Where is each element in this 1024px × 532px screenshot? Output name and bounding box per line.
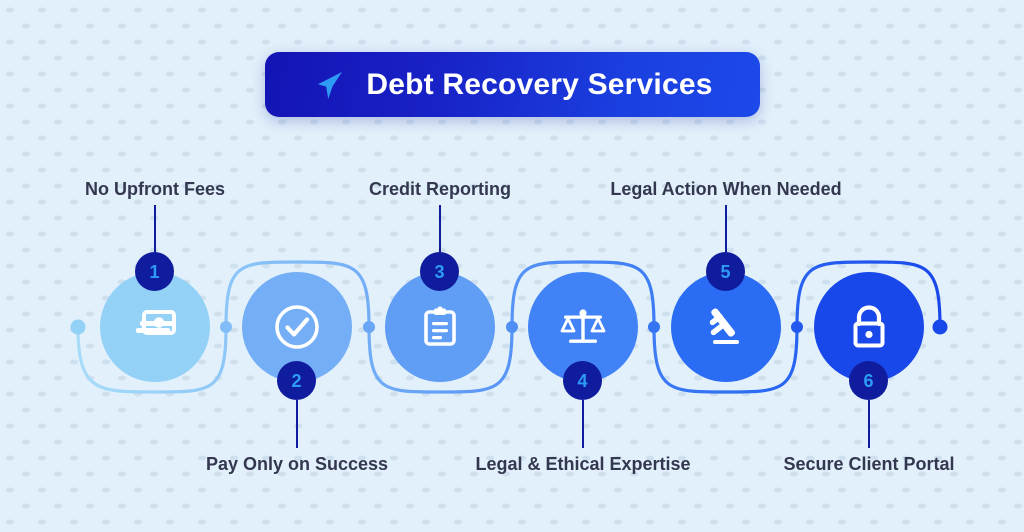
title-banner: Debt Recovery Services	[265, 52, 760, 117]
step-label-4: Legal & Ethical Expertise	[475, 455, 690, 473]
infographic-canvas: No Upfront Fees 1 Pay Only on Success 2 …	[0, 0, 1024, 532]
step-number-3: 3	[434, 263, 444, 281]
check-circle-icon	[267, 297, 327, 357]
clipboard-icon	[411, 298, 469, 356]
page-title: Debt Recovery Services	[366, 70, 712, 100]
step-number-1: 1	[149, 263, 159, 281]
scales-of-justice-icon	[552, 296, 614, 358]
step-badge-3[interactable]: 3	[420, 252, 459, 291]
step-number-2: 2	[291, 372, 301, 390]
step-badge-4[interactable]: 4	[563, 361, 602, 400]
stem-step-6	[868, 400, 870, 448]
gavel-icon	[696, 297, 756, 357]
banknote-icon	[123, 295, 187, 359]
step-label-3: Credit Reporting	[369, 180, 511, 198]
step-number-5: 5	[720, 263, 730, 281]
stem-step-2	[296, 400, 298, 448]
step-label-1: No Upfront Fees	[85, 180, 225, 198]
step-badge-5[interactable]: 5	[706, 252, 745, 291]
step-label-2: Pay Only on Success	[206, 455, 388, 473]
step-label-5: Legal Action When Needed	[610, 180, 841, 198]
stem-step-4	[582, 400, 584, 448]
padlock-icon	[839, 297, 899, 357]
step-badge-1[interactable]: 1	[135, 252, 174, 291]
paper-plane-icon	[312, 68, 346, 102]
step-label-6: Secure Client Portal	[783, 455, 954, 473]
step-badge-6[interactable]: 6	[849, 361, 888, 400]
step-number-6: 6	[863, 372, 873, 390]
step-badge-2[interactable]: 2	[277, 361, 316, 400]
step-number-4: 4	[577, 372, 587, 390]
